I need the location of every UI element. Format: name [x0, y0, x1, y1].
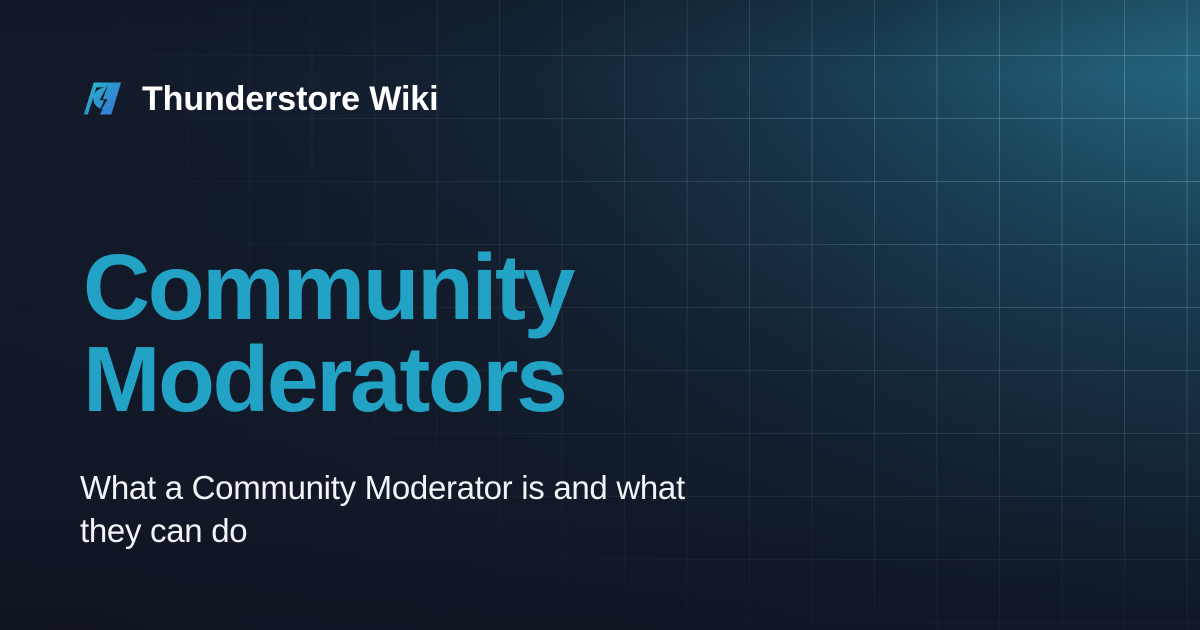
brand-header: Thunderstore Wiki [79, 75, 438, 122]
og-banner-card: Thunderstore Wiki Community Moderators W… [0, 0, 1200, 630]
page-subtitle-line-2: they can do [80, 510, 840, 553]
page-subtitle: What a Community Moderator is and what t… [80, 467, 840, 553]
page-subtitle-line-1: What a Community Moderator is and what [80, 467, 840, 510]
page-title: Community Moderators [83, 241, 963, 425]
thunderstore-lightning-shield-icon [79, 75, 126, 122]
card-content: Thunderstore Wiki Community Moderators W… [0, 0, 1200, 630]
page-title-line-1: Community [83, 241, 963, 333]
brand-name-label: Thunderstore Wiki [142, 82, 438, 116]
page-title-line-2: Moderators [83, 333, 963, 425]
